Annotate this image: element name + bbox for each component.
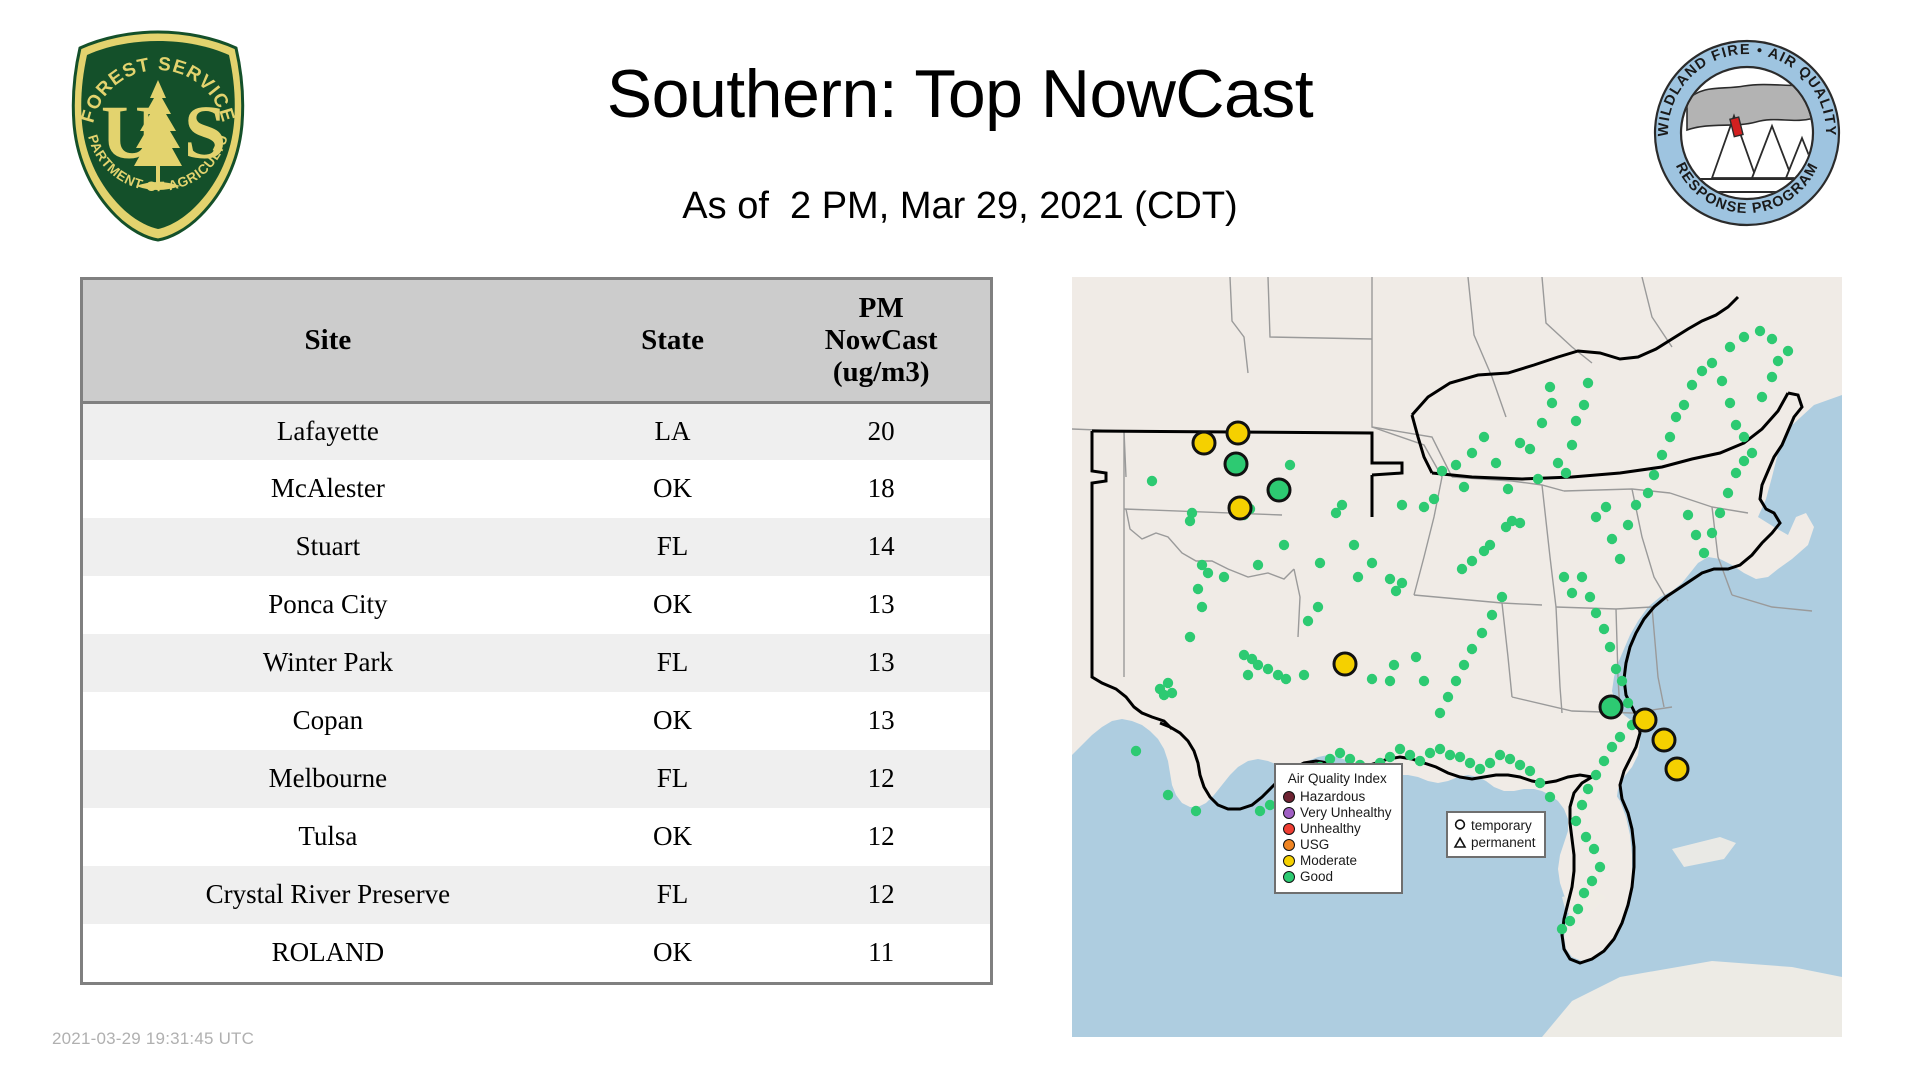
cell-state: OK — [573, 808, 773, 866]
monitor-dot — [1475, 764, 1485, 774]
table-header-row: Site State PM NowCast (ug/m3) — [83, 280, 990, 402]
cell-state: FL — [573, 750, 773, 808]
column-header-site: Site — [83, 280, 573, 402]
monitor-dot — [1185, 516, 1195, 526]
monitor-dot — [1459, 482, 1469, 492]
monitor-dot — [1573, 904, 1583, 914]
monitor-dot — [1515, 760, 1525, 770]
cell-pm: 18 — [772, 460, 990, 518]
monitor-dot — [1435, 708, 1445, 718]
monitor-dot — [1191, 806, 1201, 816]
table-row: Winter ParkFL13 — [83, 634, 990, 692]
monitor-dot — [1767, 372, 1777, 382]
monitor-dot — [1193, 584, 1203, 594]
monitor-dot — [1725, 342, 1735, 352]
column-header-pm-line2: NowCast — [776, 324, 986, 356]
monitor-dot — [1395, 744, 1405, 754]
monitor-dot — [1467, 556, 1477, 566]
monitor-dot — [1219, 572, 1229, 582]
monitor-dot — [1773, 356, 1783, 366]
aqi-swatch-icon — [1283, 823, 1295, 835]
monitor-dot — [1497, 592, 1507, 602]
aqi-legend-label: Moderate — [1300, 854, 1357, 868]
aqi-legend-row: Hazardous — [1283, 789, 1392, 805]
monitor-dot — [1451, 676, 1461, 686]
monitor-dot — [1425, 748, 1435, 758]
monitor-dot — [1279, 540, 1289, 550]
aqi-legend-items: HazardousVery UnhealthyUnhealthyUSGModer… — [1283, 789, 1392, 885]
monitor-dot — [1443, 692, 1453, 702]
monitor-dot — [1281, 674, 1291, 684]
legend-label-temporary: temporary — [1471, 819, 1532, 833]
highlighted-monitor-marker[interactable] — [1268, 479, 1290, 501]
aqi-swatch-icon — [1283, 839, 1295, 851]
table-row: LafayetteLA20 — [83, 402, 990, 460]
monitor-dot — [1445, 750, 1455, 760]
monitor-dot — [1185, 632, 1195, 642]
monitor-dot — [1583, 784, 1593, 794]
monitor-dot — [1599, 756, 1609, 766]
monitor-dot — [1315, 558, 1325, 568]
monitor-map[interactable]: Air Quality Index HazardousVery Unhealth… — [1072, 277, 1842, 1037]
aqi-legend-row: Good — [1283, 869, 1392, 885]
aqi-legend-row: Very Unhealthy — [1283, 805, 1392, 821]
monitor-dot — [1455, 752, 1465, 762]
monitor-dot — [1561, 468, 1571, 478]
monitor-dot — [1337, 500, 1347, 510]
monitor-dot — [1587, 876, 1597, 886]
cell-state: FL — [573, 634, 773, 692]
monitor-dot — [1545, 382, 1555, 392]
monitor-dot — [1697, 366, 1707, 376]
monitor-dot — [1253, 660, 1263, 670]
highlighted-monitor-marker[interactable] — [1227, 422, 1249, 444]
monitor-dot — [1601, 502, 1611, 512]
monitor-dot — [1487, 610, 1497, 620]
monitor-dot — [1605, 642, 1615, 652]
monitor-dot — [1581, 832, 1591, 842]
table-row: Crystal River PreserveFL12 — [83, 866, 990, 924]
monitor-dot — [1591, 608, 1601, 618]
monitor-dot — [1595, 862, 1605, 872]
aqi-legend-row: Moderate — [1283, 853, 1392, 869]
monitor-dot — [1591, 770, 1601, 780]
highlighted-monitor-marker[interactable] — [1600, 696, 1622, 718]
monitor-dot — [1739, 432, 1749, 442]
monitor-dot — [1715, 508, 1725, 518]
map-canvas — [1072, 277, 1842, 1037]
cell-state: FL — [573, 518, 773, 576]
monitor-dot — [1731, 420, 1741, 430]
cell-site: Lafayette — [83, 402, 573, 460]
monitor-dot — [1591, 512, 1601, 522]
monitor-dot — [1491, 458, 1501, 468]
monitor-dot — [1757, 392, 1767, 402]
monitor-dot — [1203, 568, 1213, 578]
monitor-dot — [1495, 750, 1505, 760]
monitor-dot — [1367, 558, 1377, 568]
aqi-swatch-icon — [1283, 871, 1295, 883]
highlighted-monitor-marker[interactable] — [1653, 729, 1675, 751]
monitor-dot — [1535, 778, 1545, 788]
monitor-dot — [1197, 602, 1207, 612]
monitor-dot — [1285, 460, 1295, 470]
monitor-dot — [1607, 742, 1617, 752]
monitor-dot — [1747, 448, 1757, 458]
monitor-dot — [1503, 484, 1513, 494]
monitor-dot — [1607, 534, 1617, 544]
monitor-dot — [1567, 588, 1577, 598]
monitor-dot — [1465, 758, 1475, 768]
cell-pm: 14 — [772, 518, 990, 576]
monitor-dot — [1367, 674, 1377, 684]
monitor-dot — [1397, 578, 1407, 588]
table-row: ROLANDOK11 — [83, 924, 990, 982]
highlighted-monitor-marker[interactable] — [1225, 453, 1247, 475]
monitor-dot — [1457, 564, 1467, 574]
cell-state: OK — [573, 692, 773, 750]
monitor-dot — [1147, 476, 1157, 486]
highlighted-monitor-marker[interactable] — [1229, 497, 1251, 519]
monitor-dot — [1589, 844, 1599, 854]
monitor-dot — [1485, 540, 1495, 550]
monitor-dot — [1389, 660, 1399, 670]
monitor-dot — [1505, 754, 1515, 764]
monitor-dot — [1671, 412, 1681, 422]
monitor-dot — [1353, 572, 1363, 582]
highlighted-monitor-marker[interactable] — [1334, 653, 1356, 675]
table-row: StuartFL14 — [83, 518, 990, 576]
monitor-dot — [1707, 528, 1717, 538]
cell-pm: 13 — [772, 576, 990, 634]
triangle-icon — [1453, 836, 1467, 850]
cell-site: Tulsa — [83, 808, 573, 866]
monitor-dot — [1415, 756, 1425, 766]
cell-site: McAlester — [83, 460, 573, 518]
highlighted-monitor-marker[interactable] — [1666, 758, 1688, 780]
monitor-dot — [1537, 418, 1547, 428]
aqi-legend-label: Unhealthy — [1300, 822, 1361, 836]
highlighted-monitor-marker[interactable] — [1193, 432, 1215, 454]
page-title: Southern: Top NowCast — [300, 60, 1620, 128]
aqi-legend-label: Good — [1300, 870, 1333, 884]
monitor-dot — [1397, 500, 1407, 510]
monitor-dot — [1615, 554, 1625, 564]
monitor-dot — [1313, 602, 1323, 612]
aqi-legend-title: Air Quality Index — [1283, 771, 1392, 786]
monitor-dot — [1725, 398, 1735, 408]
column-header-state: State — [573, 280, 773, 402]
cell-state: OK — [573, 460, 773, 518]
legend-label-permanent: permanent — [1471, 836, 1536, 850]
wfaqrp-logo: WILDLAND FIRE • AIR QUALITY RESPONSE PRO… — [1652, 38, 1842, 228]
page-subtitle: As of 2 PM, Mar 29, 2021 (CDT) — [300, 185, 1620, 228]
monitor-dot — [1579, 400, 1589, 410]
monitor-dot — [1349, 540, 1359, 550]
monitor-dot — [1163, 790, 1173, 800]
cell-site: ROLAND — [83, 924, 573, 982]
monitor-dot — [1479, 432, 1489, 442]
aqi-legend: Air Quality Index HazardousVery Unhealth… — [1274, 763, 1403, 894]
usda-forest-service-logo: FOREST SERVICE U S DEPARTMENT OF AGRICUL… — [58, 28, 258, 243]
monitor-dot — [1553, 458, 1563, 468]
monitor-dot — [1571, 816, 1581, 826]
table-row: McAlesterOK18 — [83, 460, 990, 518]
monitor-dot — [1299, 670, 1309, 680]
monitor-dot — [1429, 494, 1439, 504]
monitor-dot — [1567, 440, 1577, 450]
monitor-type-legend: temporary permanent — [1446, 811, 1546, 858]
table-row: MelbourneFL12 — [83, 750, 990, 808]
monitor-dot — [1243, 670, 1253, 680]
monitor-dot — [1437, 466, 1447, 476]
cell-state: OK — [573, 924, 773, 982]
monitor-dot — [1731, 468, 1741, 478]
column-header-pm-line3: (ug/m3) — [776, 356, 986, 388]
monitor-dot — [1657, 450, 1667, 460]
monitor-dot — [1691, 530, 1701, 540]
monitor-dot — [1385, 676, 1395, 686]
monitor-dot — [1579, 888, 1589, 898]
footer-timestamp: 2021-03-29 19:31:45 UTC — [52, 1029, 254, 1049]
monitor-dot — [1451, 460, 1461, 470]
aqi-legend-label: USG — [1300, 838, 1329, 852]
monitor-dot — [1419, 676, 1429, 686]
monitor-dot — [1585, 592, 1595, 602]
cell-pm: 20 — [772, 402, 990, 460]
monitor-dot — [1739, 332, 1749, 342]
monitor-dot — [1545, 792, 1555, 802]
monitor-dot — [1385, 574, 1395, 584]
monitor-dot — [1131, 746, 1141, 756]
monitor-dot — [1783, 346, 1793, 356]
cell-site: Crystal River Preserve — [83, 866, 573, 924]
monitor-dot — [1623, 520, 1633, 530]
monitor-dot — [1255, 806, 1265, 816]
monitor-dot — [1525, 444, 1535, 454]
monitor-dot — [1435, 744, 1445, 754]
column-header-pm-nowcast: PM NowCast (ug/m3) — [772, 280, 990, 402]
table-row: TulsaOK12 — [83, 808, 990, 866]
cell-state: OK — [573, 576, 773, 634]
table-row: CopanOK13 — [83, 692, 990, 750]
monitor-dot — [1547, 398, 1557, 408]
monitor-dot — [1649, 470, 1659, 480]
monitor-dot — [1485, 758, 1495, 768]
circle-icon — [1453, 819, 1467, 833]
monitor-dot — [1583, 378, 1593, 388]
monitor-dot — [1411, 652, 1421, 662]
aqi-legend-row: USG — [1283, 837, 1392, 853]
cell-pm: 13 — [772, 692, 990, 750]
monitor-dot — [1515, 518, 1525, 528]
monitor-dot — [1525, 766, 1535, 776]
monitor-dot — [1163, 678, 1173, 688]
monitor-dot — [1477, 628, 1487, 638]
monitor-dot — [1459, 660, 1469, 670]
highlighted-monitor-marker[interactable] — [1634, 709, 1656, 731]
monitor-dot — [1385, 752, 1395, 762]
monitor-dot — [1559, 572, 1569, 582]
monitor-dot — [1557, 924, 1567, 934]
monitor-dot — [1679, 400, 1689, 410]
monitor-dot — [1599, 624, 1609, 634]
monitor-dot — [1723, 488, 1733, 498]
monitor-dot — [1615, 732, 1625, 742]
monitor-dot — [1167, 688, 1177, 698]
monitor-dot — [1263, 664, 1273, 674]
monitor-dot — [1687, 380, 1697, 390]
aqi-legend-row: Unhealthy — [1283, 821, 1392, 837]
cell-pm: 12 — [772, 750, 990, 808]
monitor-dot — [1467, 448, 1477, 458]
monitor-dot — [1623, 698, 1633, 708]
monitor-dot — [1683, 510, 1693, 520]
cell-site: Melbourne — [83, 750, 573, 808]
monitor-dot — [1631, 500, 1641, 510]
aqi-swatch-icon — [1283, 791, 1295, 803]
monitor-dot — [1565, 916, 1575, 926]
aqi-swatch-icon — [1283, 855, 1295, 867]
table-body: LafayetteLA20McAlesterOK18StuartFL14Ponc… — [83, 402, 990, 982]
slide-root: FOREST SERVICE U S DEPARTMENT OF AGRICUL… — [0, 0, 1920, 1080]
monitor-dot — [1707, 358, 1717, 368]
aqi-legend-label: Hazardous — [1300, 790, 1365, 804]
cell-pm: 12 — [772, 866, 990, 924]
monitor-dot — [1335, 748, 1345, 758]
cell-pm: 11 — [772, 924, 990, 982]
column-header-pm-line1: PM — [776, 292, 986, 324]
monitor-dot — [1303, 616, 1313, 626]
cell-site: Winter Park — [83, 634, 573, 692]
monitor-dot — [1699, 548, 1709, 558]
cell-pm: 12 — [772, 808, 990, 866]
monitor-dot — [1617, 676, 1627, 686]
monitor-dot — [1405, 750, 1415, 760]
aqi-legend-label: Very Unhealthy — [1300, 806, 1392, 820]
legend-row-permanent: permanent — [1453, 834, 1536, 851]
cell-state: FL — [573, 866, 773, 924]
monitor-dot — [1571, 416, 1581, 426]
monitor-dot — [1717, 376, 1727, 386]
monitor-dot — [1533, 474, 1543, 484]
table-row: Ponca CityOK13 — [83, 576, 990, 634]
monitor-dot — [1643, 488, 1653, 498]
monitor-dot — [1419, 502, 1429, 512]
monitor-dot — [1665, 432, 1675, 442]
cell-site: Copan — [83, 692, 573, 750]
cell-site: Stuart — [83, 518, 573, 576]
monitor-dot — [1767, 334, 1777, 344]
monitor-dot — [1739, 456, 1749, 466]
aqi-swatch-icon — [1283, 807, 1295, 819]
cell-state: LA — [573, 402, 773, 460]
monitor-dot — [1577, 800, 1587, 810]
monitor-dot — [1755, 326, 1765, 336]
monitor-dot — [1577, 572, 1587, 582]
cell-site: Ponca City — [83, 576, 573, 634]
monitor-dot — [1253, 560, 1263, 570]
cell-pm: 13 — [772, 634, 990, 692]
legend-row-temporary: temporary — [1453, 817, 1536, 834]
table-header: Site State PM NowCast (ug/m3) — [83, 280, 990, 402]
monitor-dot — [1515, 438, 1525, 448]
monitor-dot — [1467, 644, 1477, 654]
monitor-dot — [1611, 664, 1621, 674]
top-nowcast-table: Site State PM NowCast (ug/m3) LafayetteL… — [80, 277, 993, 985]
